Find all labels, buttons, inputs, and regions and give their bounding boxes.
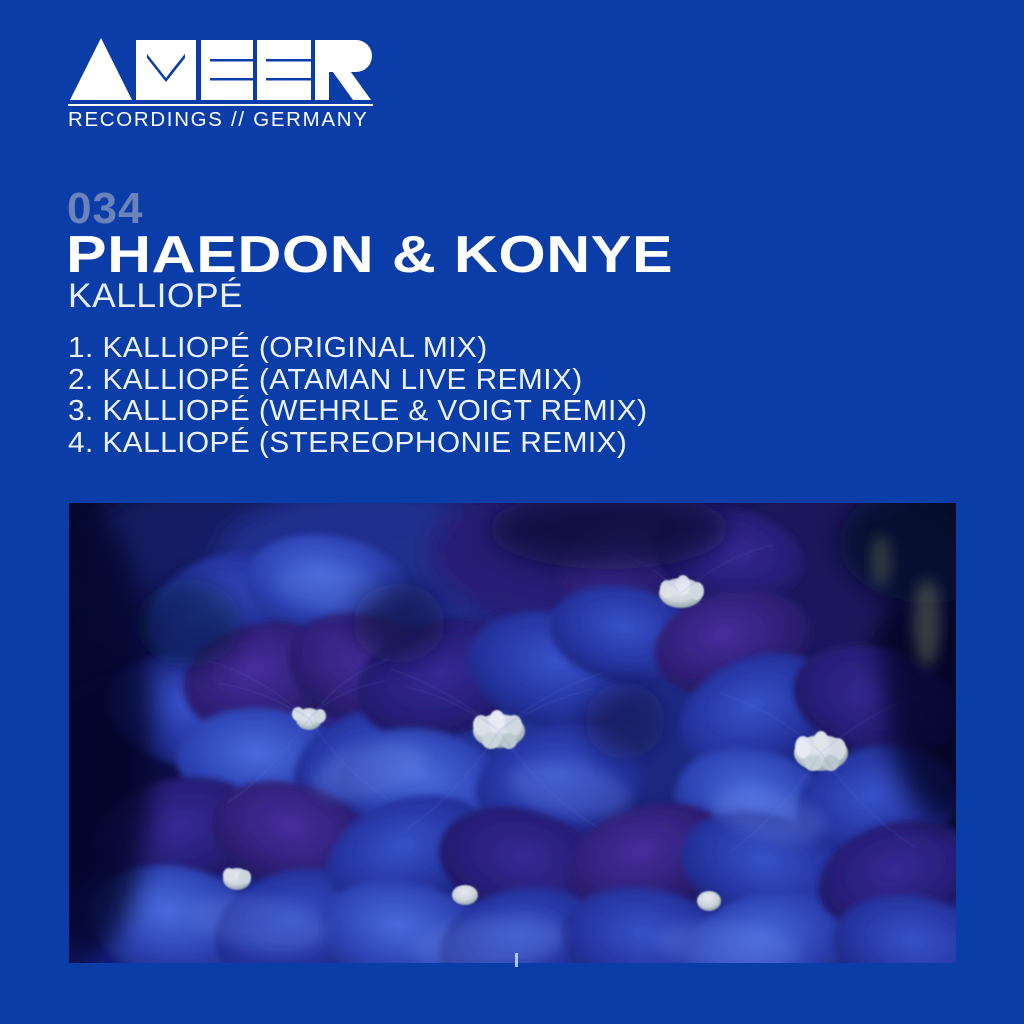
blue-hydrangea-flowers-photo: [69, 503, 956, 963]
tracklist: 1. KALLIOPÉ (ORIGINAL MIX) 2. KALLIOPÉ (…: [68, 334, 631, 460]
tracklist-item: 1. KALLIOPÉ (ORIGINAL MIX): [68, 334, 647, 363]
tracklist-item: 3. KALLIOPÉ (WEHRLE & VOIGT REMIX): [68, 397, 647, 426]
release-title: KALLIOPÉ: [68, 277, 243, 315]
label-tagline: RECORDINGS // GERMANY: [68, 108, 379, 132]
tracklist-item: 4. KALLIOPÉ (STEREOPHONIE REMIX): [68, 429, 647, 458]
album-cover: RECORDINGS // GERMANY 034 PHAEDON & KONY…: [0, 0, 1024, 1024]
logo-divider-rule: [68, 104, 373, 106]
amber-wordmark-logo-icon: [68, 32, 373, 104]
photo-bottom-tick-mark: [515, 953, 518, 967]
artist-name: PHAEDON & KONYE: [66, 228, 673, 282]
label-logo: [68, 32, 373, 104]
tracklist-item: 2. KALLIOPÉ (ATAMAN LIVE REMIX): [68, 366, 647, 395]
